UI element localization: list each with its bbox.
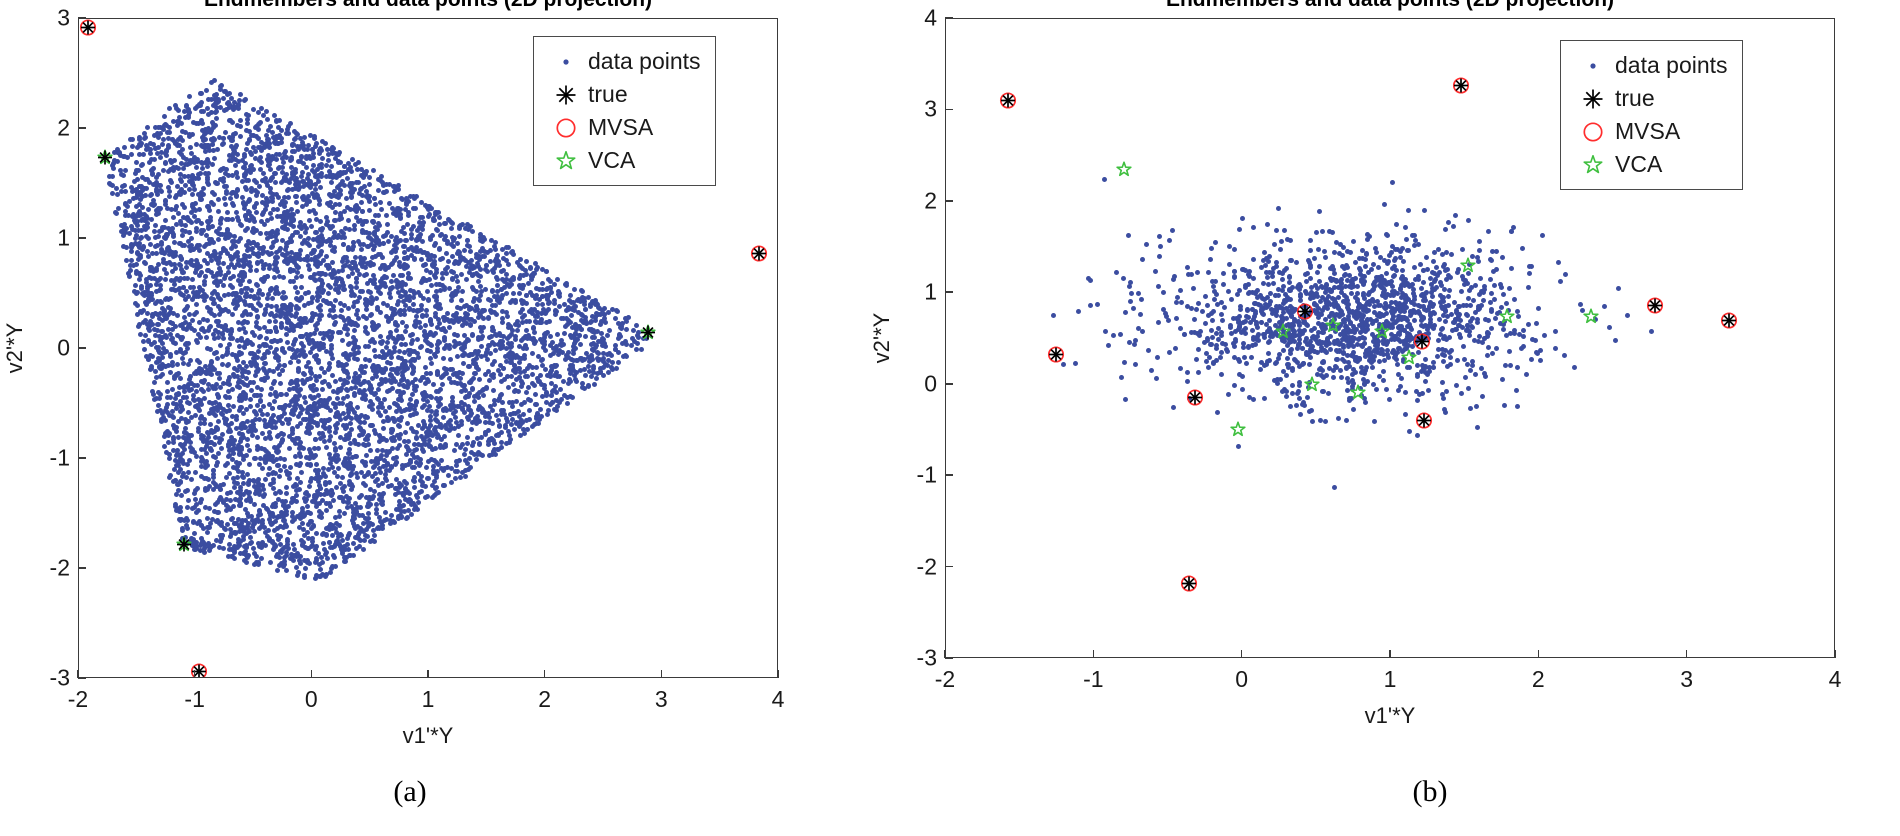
y-tick-label: 3: [893, 96, 937, 123]
green-star-marker: [176, 537, 192, 558]
x-tick: [1389, 650, 1391, 658]
plot-b-yaxis-label: v2'*Y: [869, 313, 895, 364]
x-tick-label: 3: [655, 686, 668, 713]
y-tick-label: 1: [893, 279, 937, 306]
blue-dot-marker: [1571, 59, 1615, 73]
figure-root: Endmembers and data points (2D projectio…: [0, 0, 1900, 836]
plot-a-title: Endmembers and data points (2D projectio…: [78, 0, 778, 12]
legend-item-vca: VCA: [544, 144, 701, 177]
subfigure-caption: (b): [1413, 775, 1448, 809]
y-tick-label: 1: [26, 225, 70, 252]
y-tick: [78, 347, 86, 349]
y-tick: [78, 677, 86, 679]
black-asterisk-marker: [81, 20, 96, 40]
green-star-marker: [1325, 318, 1341, 339]
x-tick: [1834, 650, 1836, 658]
red-circle-marker: [1415, 412, 1432, 434]
green-star-marker: [544, 151, 588, 171]
red-circle-marker: [80, 19, 97, 41]
plot-b-xaxis-label: v1'*Y: [1365, 703, 1416, 729]
green-star-marker: [1230, 422, 1246, 443]
x-tick: [544, 670, 546, 678]
x-tick-label: -2: [68, 686, 88, 713]
x-tick-label: -1: [184, 686, 204, 713]
y-tick-label: 2: [26, 115, 70, 142]
y-tick-label: 4: [893, 5, 937, 32]
green-star-marker: [1460, 257, 1476, 278]
y-tick: [945, 200, 953, 202]
plot-panel-a: Endmembers and data points (2D projectio…: [0, 0, 830, 836]
y-tick: [945, 109, 953, 111]
black-asterisk-marker: [1648, 298, 1663, 318]
red-circle-marker: [1647, 297, 1664, 319]
red-circle-marker: [1296, 303, 1313, 325]
red-circle-marker: [544, 118, 588, 138]
x-tick: [427, 670, 429, 678]
legend-item-label: true: [1615, 85, 1655, 112]
black-asterisk-marker: [1722, 313, 1737, 333]
x-tick-label: 3: [1680, 666, 1693, 693]
y-tick: [945, 383, 953, 385]
green-star-marker: [1374, 323, 1390, 344]
x-tick: [311, 670, 313, 678]
green-star-marker: [1571, 155, 1615, 175]
x-tick-label: -1: [1083, 666, 1103, 693]
legend-item-true: true: [1571, 82, 1728, 115]
legend-item-data-points: data points: [1571, 49, 1728, 82]
blue-dot-marker: [544, 55, 588, 69]
y-tick-label: 3: [26, 5, 70, 32]
red-circle-marker: [1452, 77, 1469, 99]
red-circle-marker: [1414, 333, 1431, 355]
black-asterisk-marker: [1297, 304, 1312, 324]
y-tick: [78, 567, 86, 569]
y-tick: [78, 457, 86, 459]
x-tick: [1241, 650, 1243, 658]
red-circle-marker: [1571, 122, 1615, 142]
legend-item-label: MVSA: [588, 114, 653, 141]
y-tick-label: -2: [26, 555, 70, 582]
legend-item-true: true: [544, 78, 701, 111]
y-tick-label: 2: [893, 187, 937, 214]
red-circle-marker: [1187, 389, 1204, 411]
x-tick: [1686, 650, 1688, 658]
y-tick: [945, 474, 953, 476]
plot-a-xaxis-label: v1'*Y: [403, 723, 454, 749]
x-tick-label: 2: [538, 686, 551, 713]
y-tick-label: 0: [26, 335, 70, 362]
x-tick-label: 1: [422, 686, 435, 713]
black-asterisk-marker: [641, 325, 656, 345]
legend-item-label: MVSA: [1615, 118, 1680, 145]
y-tick: [945, 291, 953, 293]
x-tick: [194, 670, 196, 678]
plot-panel-b: Endmembers and data points (2D projectio…: [830, 0, 1900, 836]
black-asterisk-marker: [1188, 390, 1203, 410]
green-star-marker: [1499, 308, 1515, 329]
black-asterisk-marker: [97, 150, 112, 170]
y-tick-label: -1: [26, 445, 70, 472]
legend-item-data-points: data points: [544, 45, 701, 78]
red-circle-marker: [1047, 346, 1064, 368]
black-asterisk-marker: [177, 537, 192, 557]
black-asterisk-marker: [1048, 347, 1063, 367]
red-circle-marker: [1181, 575, 1198, 597]
black-asterisk-marker: [752, 246, 767, 266]
black-asterisk-marker: [1182, 576, 1197, 596]
x-tick: [1093, 650, 1095, 658]
red-circle-marker: [751, 245, 768, 267]
y-tick-label: -2: [893, 553, 937, 580]
black-asterisk-marker: [544, 85, 588, 105]
legend-item-label: data points: [588, 48, 701, 75]
legend-item-vca: VCA: [1571, 148, 1728, 181]
y-tick: [78, 127, 86, 129]
plot-b-title: Endmembers and data points (2D projectio…: [945, 0, 1835, 12]
x-tick-label: 0: [1235, 666, 1248, 693]
y-tick-label: -1: [893, 462, 937, 489]
red-circle-marker: [1000, 92, 1017, 114]
legend-item-label: VCA: [588, 147, 635, 174]
y-tick: [945, 566, 953, 568]
legend-item-mvsa: MVSA: [1571, 115, 1728, 148]
green-star-marker: [1116, 161, 1132, 182]
plot-a-yaxis-label: v2'*Y: [2, 323, 28, 374]
green-star-marker: [97, 149, 113, 170]
black-asterisk-marker: [1415, 334, 1430, 354]
green-star-marker: [1583, 308, 1599, 329]
x-tick-label: 1: [1384, 666, 1397, 693]
green-star-marker: [1401, 350, 1417, 371]
plot-b-legend: data pointstrueMVSAVCA: [1560, 40, 1743, 190]
y-tick: [945, 17, 953, 19]
black-asterisk-marker: [1416, 413, 1431, 433]
legend-item-label: VCA: [1615, 151, 1662, 178]
green-star-marker: [1275, 323, 1291, 344]
red-circle-marker: [1721, 312, 1738, 334]
x-tick-label: 2: [1532, 666, 1545, 693]
x-tick: [1538, 650, 1540, 658]
y-tick-label: -3: [26, 665, 70, 692]
legend-item-label: true: [588, 81, 628, 108]
y-tick: [78, 17, 86, 19]
y-tick-label: -3: [893, 645, 937, 672]
legend-item-label: data points: [1615, 52, 1728, 79]
subfigure-caption: (a): [393, 775, 426, 809]
x-tick-label: 4: [772, 686, 785, 713]
y-tick: [78, 237, 86, 239]
black-asterisk-marker: [1571, 89, 1615, 109]
green-star-marker: [640, 324, 656, 345]
x-tick-label: 0: [305, 686, 318, 713]
plot-a-legend: data pointstrueMVSAVCA: [533, 36, 716, 186]
legend-item-mvsa: MVSA: [544, 111, 701, 144]
black-asterisk-marker: [1001, 93, 1016, 113]
green-star-marker: [1350, 384, 1366, 405]
green-star-marker: [1304, 377, 1320, 398]
y-tick: [945, 657, 953, 659]
x-tick-label: -2: [935, 666, 955, 693]
x-tick: [661, 670, 663, 678]
x-tick: [777, 670, 779, 678]
y-tick-label: 0: [893, 370, 937, 397]
x-tick-label: 4: [1829, 666, 1842, 693]
black-asterisk-marker: [1453, 78, 1468, 98]
